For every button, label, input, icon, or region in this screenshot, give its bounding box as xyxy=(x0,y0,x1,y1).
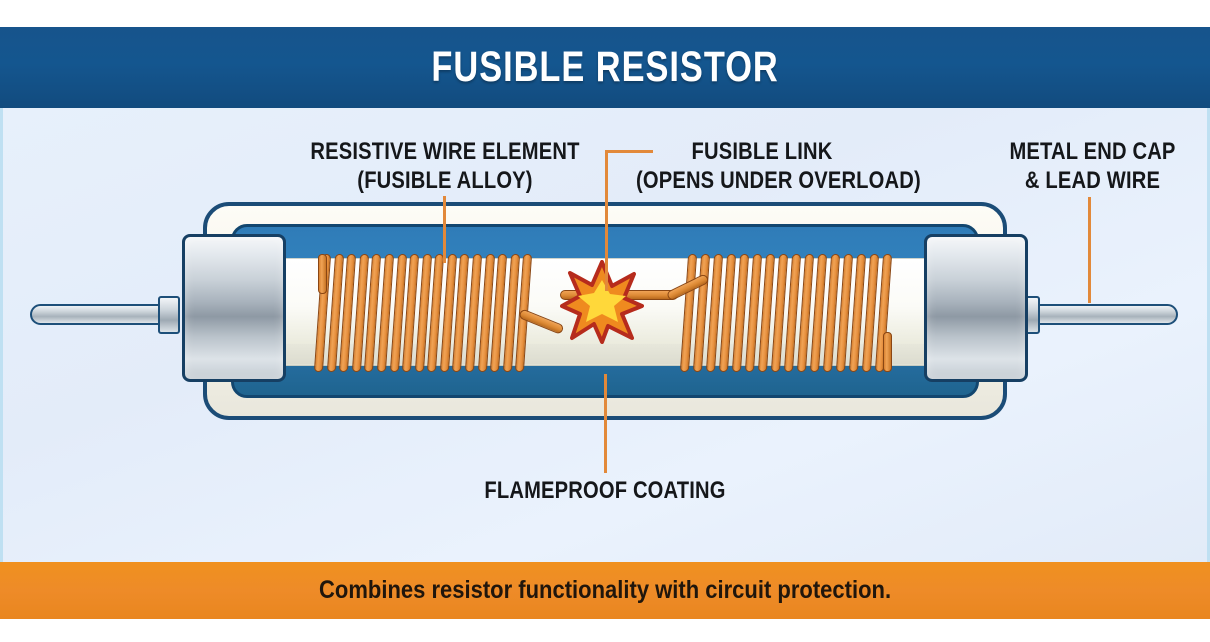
winding-stub-right xyxy=(883,332,892,372)
callout-line-1: METAL END CAP xyxy=(1002,138,1183,167)
callout-resistive-wire-element: RESISTIVE WIRE ELEMENT (FUSIBLE ALLOY) xyxy=(255,138,635,196)
lead-collar-left xyxy=(158,296,180,334)
callout-line-2: (FUSIBLE ALLOY) xyxy=(285,167,604,196)
leader-line-metal-end-cap xyxy=(1088,197,1091,303)
callout-line-1: FLAMEPROOF COATING xyxy=(471,477,740,506)
callout-line-1: RESISTIVE WIRE ELEMENT xyxy=(285,138,604,167)
callout-line-2: (OPENS UNDER OVERLOAD) xyxy=(636,167,888,196)
resistive-winding-left xyxy=(318,254,532,372)
callout-line-2: & LEAD WIRE xyxy=(1002,167,1183,196)
callout-flameproof-coating: FLAMEPROOF COATING xyxy=(445,477,765,506)
callout-metal-end-cap: METAL END CAP & LEAD WIRE xyxy=(985,138,1200,196)
leader-line-resistive-wire xyxy=(443,196,446,263)
footer-caption: Combines resistor functionality with cir… xyxy=(319,576,891,605)
leader-line-flameproof-coating xyxy=(604,374,607,473)
footer-banner: Combines resistor functionality with cir… xyxy=(0,562,1210,619)
winding-stub-left xyxy=(318,254,327,294)
metal-end-cap-right xyxy=(924,234,1028,382)
header-banner: FUSIBLE RESISTOR xyxy=(0,27,1210,108)
page-title: FUSIBLE RESISTOR xyxy=(431,43,778,92)
callout-line-1: FUSIBLE LINK xyxy=(636,138,888,167)
metal-end-cap-left xyxy=(182,234,286,382)
lead-wire-right xyxy=(1030,304,1178,325)
fusible-link-burst-icon xyxy=(560,260,644,344)
diagram-canvas: FUSIBLE RESISTOR xyxy=(0,0,1210,642)
resistive-winding-right xyxy=(684,254,892,372)
lead-wire-left xyxy=(30,304,176,325)
callout-fusible-link: FUSIBLE LINK (OPENS UNDER OVERLOAD) xyxy=(612,138,912,196)
